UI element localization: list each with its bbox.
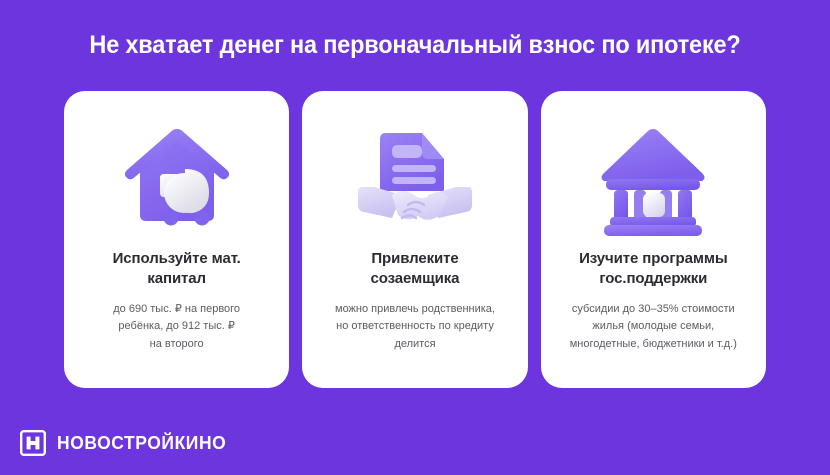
benefit-card-description: субсидии до 30–35% стоимости жилья (моло… <box>570 301 737 353</box>
benefit-card[interactable]: Изучите программы гос.поддержки субсидии… <box>541 91 766 388</box>
benefit-card[interactable]: Привлеките созаемщика можно привлечь род… <box>302 91 527 388</box>
page-title: Не хватает денег на первоначальный взнос… <box>25 31 805 60</box>
benefit-card-title: Используйте мат. капитал <box>113 249 241 288</box>
brand-logo-text: НОВОСТРОЙКИНО <box>57 433 226 454</box>
benefit-card-description: до 690 тыс. ₽ на первого ребёнка, до 912… <box>113 301 240 353</box>
benefit-card-description: можно привлечь родственника, но ответств… <box>335 301 495 353</box>
benefit-card[interactable]: Используйте мат. капитал до 690 тыс. ₽ н… <box>64 91 289 388</box>
brand-logo[interactable]: НОВОСТРОЙКИНО <box>20 430 232 456</box>
benefit-card-title: Привлеките созаемщика <box>371 249 460 288</box>
benefit-cards-row: Используйте мат. капитал до 690 тыс. ₽ н… <box>64 91 766 388</box>
house-with-stroller-icon <box>78 113 275 243</box>
benefit-card-title: Изучите программы гос.поддержки <box>579 249 727 288</box>
government-bank-building-icon <box>555 113 752 243</box>
handshake-contract-icon <box>316 113 513 243</box>
novostroykino-h-mark-icon <box>20 430 46 456</box>
